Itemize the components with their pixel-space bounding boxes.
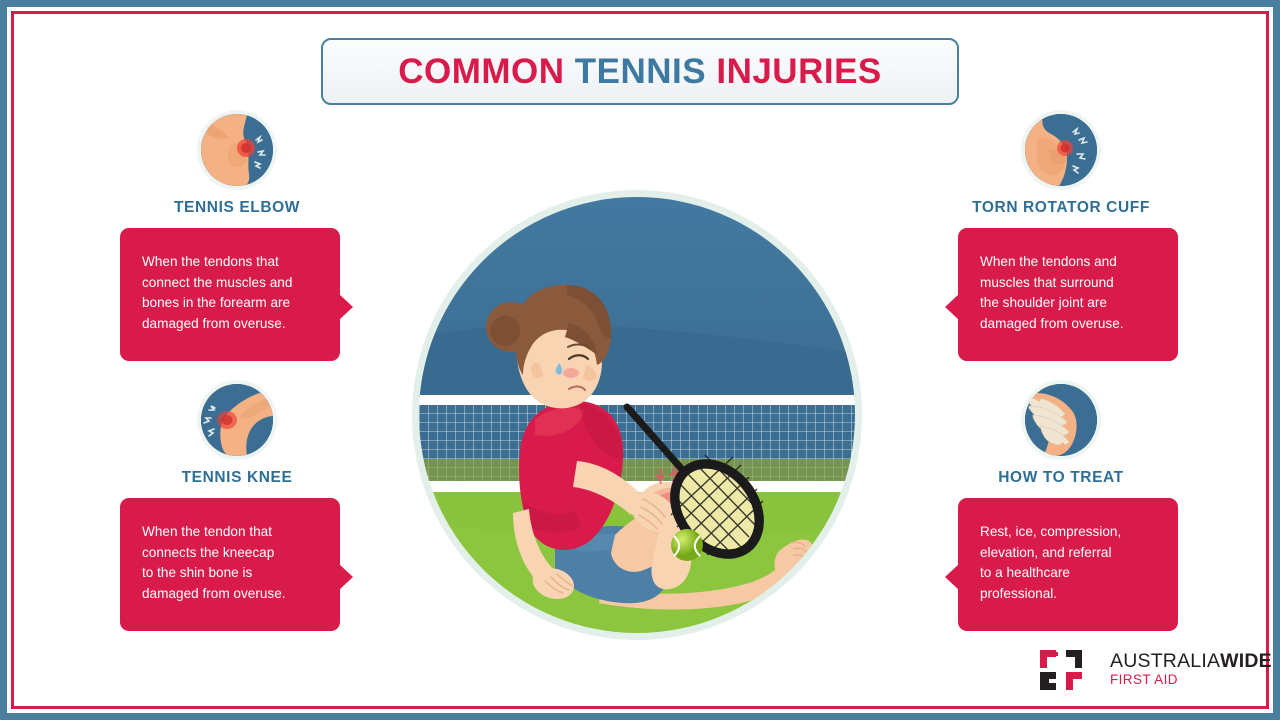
knee-pain-icon [197,380,277,460]
callout-how-to-treat-text: Rest, ice, compression, elevation, and r… [980,522,1156,605]
hero-illustration-ring [412,190,862,640]
title-word-common: COMMON [398,52,575,91]
callout-tennis-knee: When the tendon that connects the kneeca… [120,498,340,631]
logo-name-wide: WIDE [1220,650,1272,672]
elbow-pain-icon [197,110,277,190]
tennis-player-injury-illustration [419,197,855,633]
sidebar-item-tennis-knee-heading: TENNIS KNEE [87,469,387,487]
callout-tail-left-icon [945,294,959,320]
logo-wordmark: AUSTRALIAWIDE FIRST AID [1110,651,1272,690]
brand-logo: AUSTRALIAWIDE FIRST AID [1036,643,1241,697]
sidebar-item-tennis-elbow-heading: TENNIS ELBOW [87,199,387,217]
callout-tennis-elbow-text: When the tendons that connect the muscle… [142,252,318,335]
knee-pain-graphic [201,384,273,456]
logo-tagline: FIRST AID [1110,672,1272,689]
logo-name-australia: AUSTRALIA [1110,650,1220,672]
callout-torn-rotator-cuff: When the tendons and muscles that surrou… [958,228,1178,361]
tennis-ball [671,529,703,561]
callout-how-to-treat: Rest, ice, compression, elevation, and r… [958,498,1178,631]
knee-pain-icon-inner [201,384,273,456]
australia-wide-cross-logo-icon [1036,646,1088,694]
callout-tail-right-icon [339,564,353,590]
logo-company-name: AUSTRALIAWIDE [1110,651,1272,673]
callout-tennis-knee-text: When the tendon that connects the kneeca… [142,522,318,605]
poster-canvas: COMMON TENNIS INJURIES [0,0,1280,720]
bandaged-knee-icon-inner [1025,384,1097,456]
page-title: COMMON TENNIS INJURIES [398,52,882,92]
callout-tennis-elbow: When the tendons that connect the muscle… [120,228,340,361]
tennis-court-scene-graphic [419,197,855,633]
infographic-poster: COMMON TENNIS INJURIES [0,0,1280,720]
callout-tail-left-icon [945,564,959,590]
bandaged-knee-icon [1021,380,1101,460]
title-word-tennis: TENNIS [575,52,717,91]
shoulder-pain-graphic [1025,114,1097,186]
shoulder-pain-icon [1021,110,1101,190]
elbow-pain-graphic [201,114,273,186]
sidebar-item-how-to-treat-heading: HOW TO TREAT [911,469,1211,487]
title-word-injuries: INJURIES [716,52,881,91]
elbow-pain-icon-inner [201,114,273,186]
sidebar-item-torn-rotator-cuff-heading: TORN ROTATOR CUFF [911,199,1211,217]
callout-tail-right-icon [339,294,353,320]
page-title-banner: COMMON TENNIS INJURIES [321,38,959,105]
shoulder-pain-icon-inner [1025,114,1097,186]
callout-torn-rotator-cuff-text: When the tendons and muscles that surrou… [980,252,1156,335]
bandaged-knee-graphic [1025,384,1097,456]
